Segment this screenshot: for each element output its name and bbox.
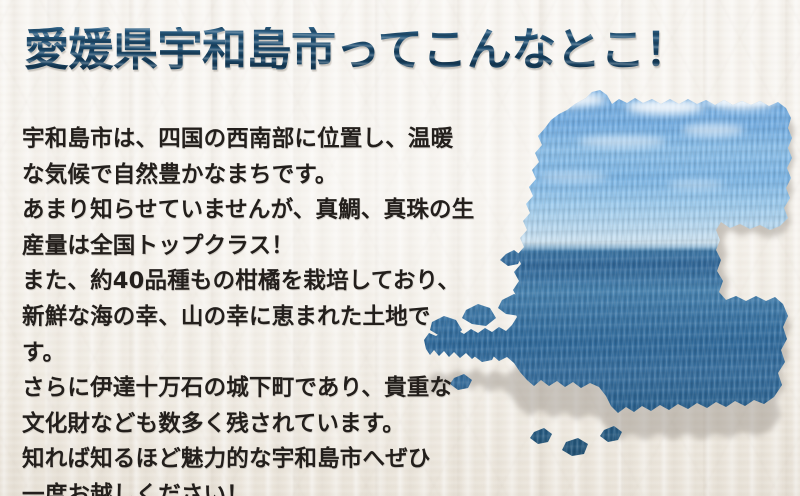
promo-banner: 愛媛県宇和島市ってこんなとこ！ 宇和島市は、四国の西南部に位置し、温暖 な気候で…	[0, 0, 800, 496]
uwajima-map	[418, 84, 800, 496]
body-line: 一度お越しください！	[22, 478, 462, 496]
body-line: 産量は全国トップクラス！	[22, 229, 462, 265]
page-title: 愛媛県宇和島市ってこんなとこ！	[24, 27, 689, 72]
body-line: す。	[22, 336, 462, 372]
body-line: あまり知らせていませんが、真鯛、真珠の生	[22, 193, 462, 229]
body-line: また、約40品種もの柑橘を栽培しており、	[22, 264, 462, 300]
body-line: 宇和島市は、四国の西南部に位置し、温暖	[22, 122, 462, 158]
body-line: 知れば知るほど魅力的な宇和島市へぜひ	[22, 442, 462, 478]
body-line: な気候で自然豊かなまちです。	[22, 158, 462, 194]
description-text: 宇和島市は、四国の西南部に位置し、温暖 な気候で自然豊かなまちです。 あまり知ら…	[22, 122, 462, 496]
body-line: 新鮮な海の幸、山の幸に恵まれた土地で	[22, 300, 462, 336]
map-silhouette	[418, 84, 800, 496]
body-line: さらに伊達十万石の城下町であり、貴重な	[22, 371, 462, 407]
body-line: 文化財なども数多く残されています。	[22, 407, 462, 443]
